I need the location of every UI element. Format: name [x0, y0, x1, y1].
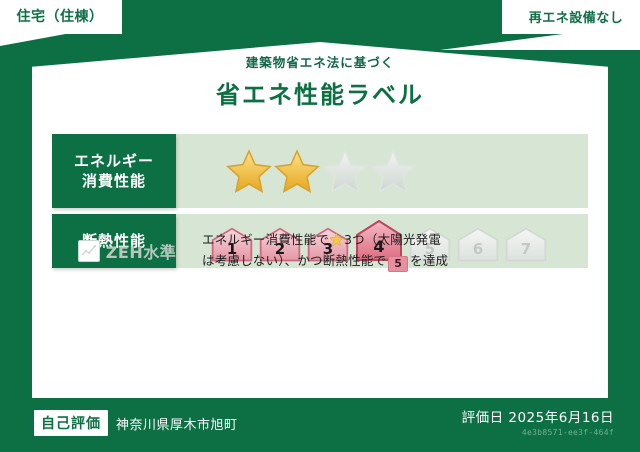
chart-box-icon [78, 240, 100, 262]
energy-consumption-value [176, 134, 588, 208]
page-title: 省エネ性能ラベル [32, 75, 608, 110]
municipality-text: 神奈川県厚木市旭町 [116, 414, 238, 433]
evaluation-id: 4e3b8571-ee3f-464f [462, 428, 614, 437]
label-footer: 自己評価 神奈川県厚木市旭町 評価日 2025年6月16日 4e3b8571-e… [0, 398, 640, 452]
title-block: 建築物省エネ法に基づく 省エネ性能ラベル [32, 52, 608, 110]
self-evaluation-badge: 自己評価 [34, 410, 108, 436]
energy-label-line2: 消費性能 [82, 171, 146, 191]
star-empty-icon [370, 148, 416, 194]
zeh-label: ZEH水準 [106, 239, 176, 263]
star-filled-icon [226, 148, 272, 194]
energy-label-line1: エネルギー [74, 151, 154, 171]
zeh-standard-indicator: ZEH水準 [52, 239, 202, 263]
note-text-part3: は考慮しない）、かつ断熱性能で [202, 253, 386, 268]
inline-star-icon [329, 232, 344, 247]
energy-consumption-row: エネルギー 消費性能 [52, 134, 588, 208]
star-empty-icon [322, 148, 368, 194]
card-content: 建築物省エネ法に基づく 省エネ性能ラベル エネルギー 消費性能 断熱性能 [32, 42, 608, 398]
zeh-note-block: ZEH水準 エネルギー消費性能で3つ（太陽光発電は考慮しない）、かつ断熱性能で5… [52, 230, 588, 272]
energy-consumption-label: エネルギー 消費性能 [52, 134, 176, 208]
note-text-part4: を達成 [410, 253, 448, 268]
building-type-tag: 住宅（住棟） [0, 0, 112, 32]
star-rating [226, 148, 416, 194]
energy-performance-label: 住宅（住棟） 再エネ設備なし 建築物省エネ法に基づく 省エネ性能ラベル エネルギ… [0, 0, 640, 452]
note-text-part1: エネルギー消費性能で [202, 232, 329, 247]
achievement-note: エネルギー消費性能で3つ（太陽光発電は考慮しない）、かつ断熱性能で5を達成 [202, 230, 588, 272]
title-subtitle: 建築物省エネ法に基づく [32, 52, 608, 71]
footer-left-group: 自己評価 神奈川県厚木市旭町 [34, 410, 238, 436]
star-filled-icon [274, 148, 320, 194]
footer-right-group: 評価日 2025年6月16日 4e3b8571-ee3f-464f [462, 406, 614, 437]
evaluation-date: 評価日 2025年6月16日 [462, 406, 614, 426]
renewable-equipment-tag: 再エネ設備なし [512, 0, 640, 32]
note-text-part2: 3つ（太陽光発電 [344, 232, 441, 247]
label-card: 建築物省エネ法に基づく 省エネ性能ラベル エネルギー 消費性能 断熱性能 [32, 42, 608, 398]
inline-grade-badge: 5 [388, 256, 408, 272]
